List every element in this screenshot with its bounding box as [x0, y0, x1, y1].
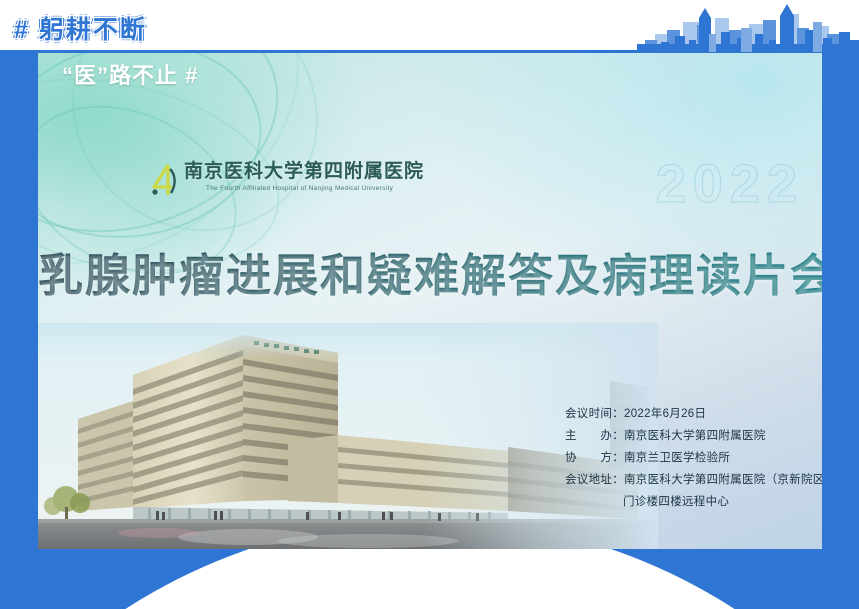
hashtag-headline: # 躬耕不断 [14, 10, 147, 46]
hospital-logo-text: 南京医科大学第四附属医院 The Fourth Affiliated Hospi… [184, 161, 424, 192]
meeting-info-row: 门诊楼四楼远程中心 [565, 491, 822, 513]
meeting-info-block: 会议时间： 2022年6月26日 主 办： 南京医科大学第四附属医院 协 方： … [565, 403, 822, 513]
poster-image: 2022 南京医科大学第四附属医院 The Fourth Affiliated … [38, 53, 822, 549]
year-watermark: 2022 [656, 153, 804, 215]
hospital-name-en: The Fourth Affiliated Hospital of Nanjin… [206, 185, 424, 192]
organizer-value: 南京医科大学第四附属医院 [624, 425, 766, 447]
meeting-time-label: 会议时间： [565, 403, 624, 425]
venue-value-line2: 门诊楼四楼远程中心 [623, 491, 729, 513]
meeting-info-row: 会议时间： 2022年6月26日 [565, 403, 822, 425]
meeting-info-row: 会议地址： 南京医科大学第四附属医院（京新院区） [565, 469, 822, 491]
meeting-time-value: 2022年6月26日 [624, 403, 706, 425]
hospital-logo: 南京医科大学第四附属医院 The Fourth Affiliated Hospi… [146, 161, 424, 197]
organizer-label: 主 办： [565, 425, 624, 447]
city-skyline-icon [637, 0, 859, 52]
poster-title: 乳腺肿瘤进展和疑难解答及病理读片会 [38, 239, 822, 304]
hospital-name-cn: 南京医科大学第四附属医院 [184, 161, 424, 183]
poster-overlay-caption: “医”路不止 # [62, 58, 198, 90]
number-four-logo-icon [146, 163, 180, 197]
meeting-info-row: 主 办： 南京医科大学第四附属医院 [565, 425, 822, 447]
venue-label: 会议地址： [565, 469, 624, 491]
coorganizer-label: 协 方： [565, 447, 624, 469]
meeting-info-row: 协 方： 南京兰卫医学检验所 [565, 447, 822, 469]
venue-value: 南京医科大学第四附属医院（京新院区） [624, 469, 822, 491]
coorganizer-value: 南京兰卫医学检验所 [624, 447, 730, 469]
